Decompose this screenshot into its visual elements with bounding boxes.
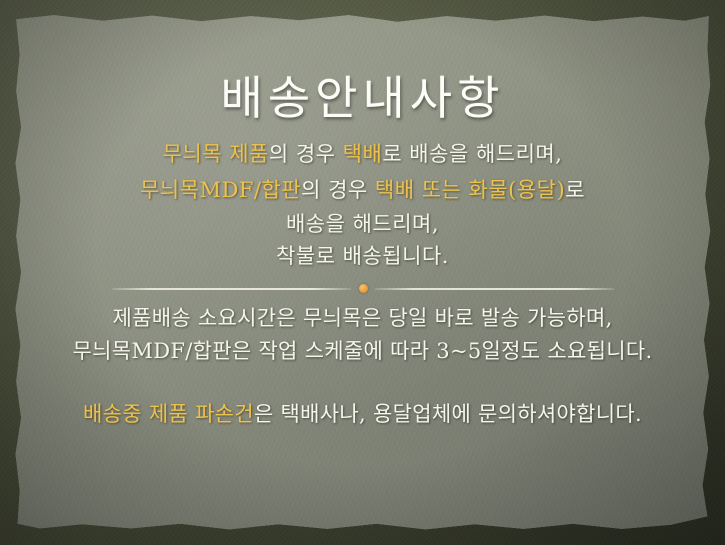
- shipping-line-1-highlight-parcel: 택배: [343, 142, 383, 166]
- slide-content: 배송안내사항 무늬목 제품의 경우 택배로 배송을 해드리며, 무늬목MDF/합…: [0, 0, 725, 545]
- shipping-line-4: 착불로 배송됩니다.: [0, 240, 725, 272]
- shipping-line-2-highlight-product: 무늬목MDF/합판: [140, 178, 301, 202]
- shipping-method-block: 무늬목 제품의 경우 택배로 배송을 해드리며, 무늬목MDF/합판의 경우 택…: [0, 136, 725, 272]
- page-title: 배송안내사항: [0, 62, 725, 128]
- shipping-line-3: 배송을 해드리며,: [0, 208, 725, 240]
- block-spacer: [0, 368, 725, 398]
- shipping-line-1-text-b: 로 배송을 해드리며,: [382, 142, 562, 166]
- slide-canvas: 배송안내사항 무늬목 제품의 경우 택배로 배송을 해드리며, 무늬목MDF/합…: [0, 0, 725, 545]
- lead-time-line-1: 제품배송 소요시간은 무늬목은 당일 바로 발송 가능하며,: [0, 302, 725, 335]
- lead-time-block: 제품배송 소요시간은 무늬목은 당일 바로 발송 가능하며, 무늬목MDF/합판…: [0, 302, 725, 431]
- shipping-line-2: 무늬목MDF/합판의 경우 택배 또는 화물(용달)로: [0, 172, 725, 208]
- shipping-line-1-text-a: 의 경우: [269, 142, 343, 166]
- shipping-line-1-highlight-product: 무늬목 제품: [163, 142, 269, 166]
- lead-time-line-2: 무늬목MDF/합판은 작업 스케줄에 따라 3~5일정도 소요됩니다.: [0, 335, 725, 368]
- damage-claim-line: 배송중 제품 파손건은 택배사나, 용달업체에 문의하셔야합니다.: [0, 398, 725, 431]
- shipping-line-2-text-a: 의 경우: [301, 178, 375, 202]
- damage-claim-highlight: 배송중 제품 파손건: [83, 402, 254, 426]
- divider-dot-icon: [359, 284, 368, 293]
- shipping-line-1: 무늬목 제품의 경우 택배로 배송을 해드리며,: [0, 136, 725, 172]
- shipping-line-2-highlight-methods: 택배 또는 화물(용달): [375, 178, 565, 202]
- divider-rule-right: [375, 288, 614, 290]
- divider-rule-left: [112, 288, 351, 290]
- shipping-line-2-text-b: 로: [565, 178, 585, 202]
- damage-claim-text: 은 택배사나, 용달업체에 문의하셔야합니다.: [254, 402, 642, 426]
- section-divider: [112, 283, 614, 295]
